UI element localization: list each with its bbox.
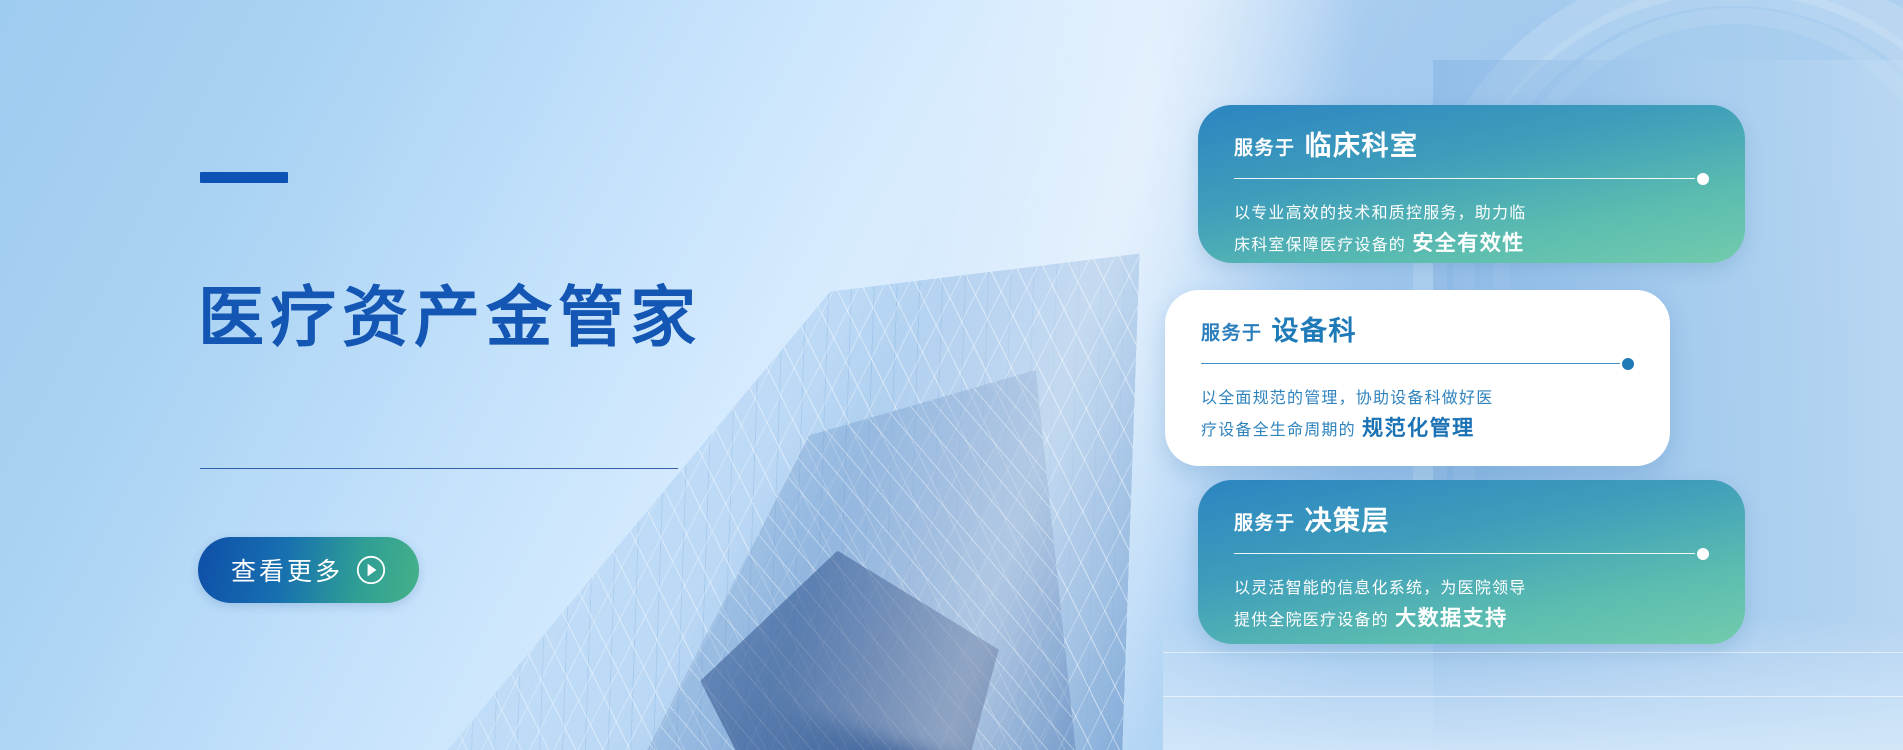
card-title-equipment: 服务于 设备科: [1201, 318, 1634, 345]
card-desc-line-2: 提供全院医疗设备的: [1234, 610, 1389, 629]
rule-line: [1234, 178, 1695, 179]
card-desc-line-2-wrap: 提供全院医疗设备的 大数据支持: [1234, 603, 1709, 635]
rule-dot-icon: [1697, 548, 1709, 560]
service-card-equipment[interactable]: 服务于 设备科 以全面规范的管理，协助设备科做好医 疗设备全生命周期的 规范化管…: [1165, 290, 1670, 466]
card-desc-line-2: 疗设备全生命周期的: [1201, 420, 1356, 439]
card-desc-line-1: 以专业高效的技术和质控服务，助力临: [1234, 198, 1709, 228]
card-rule: [1234, 548, 1709, 560]
card-prefix: 服务于: [1234, 508, 1296, 535]
card-description-decision: 以灵活智能的信息化系统，为医院领导 提供全院医疗设备的 大数据支持: [1234, 573, 1709, 635]
card-title-clinical: 服务于 临床科室: [1234, 133, 1709, 160]
card-prefix: 服务于: [1234, 133, 1296, 160]
rule-line: [1234, 553, 1695, 554]
card-target: 临床科室: [1305, 133, 1419, 160]
service-cards: 服务于 临床科室 以专业高效的技术和质控服务，助力临 床科室保障医疗设备的 安全…: [0, 0, 1903, 750]
card-rule: [1201, 358, 1634, 370]
card-desc-line-1: 以灵活智能的信息化系统，为医院领导: [1234, 573, 1709, 603]
rule-line: [1201, 363, 1620, 364]
card-desc-line-2-wrap: 床科室保障医疗设备的 安全有效性: [1234, 228, 1709, 260]
card-emphasis: 安全有效性: [1412, 231, 1525, 255]
card-prefix: 服务于: [1201, 318, 1263, 345]
card-emphasis: 大数据支持: [1395, 606, 1508, 630]
card-desc-line-2-wrap: 疗设备全生命周期的 规范化管理: [1201, 413, 1634, 445]
rule-dot-icon: [1697, 173, 1709, 185]
card-emphasis: 规范化管理: [1362, 416, 1475, 440]
card-description-clinical: 以专业高效的技术和质控服务，助力临 床科室保障医疗设备的 安全有效性: [1234, 198, 1709, 260]
card-desc-line-2: 床科室保障医疗设备的: [1234, 235, 1406, 254]
card-target: 决策层: [1305, 508, 1391, 535]
rule-dot-icon: [1622, 358, 1634, 370]
service-card-clinical[interactable]: 服务于 临床科室 以专业高效的技术和质控服务，助力临 床科室保障医疗设备的 安全…: [1198, 105, 1745, 263]
card-desc-line-1: 以全面规范的管理，协助设备科做好医: [1201, 383, 1634, 413]
card-description-equipment: 以全面规范的管理，协助设备科做好医 疗设备全生命周期的 规范化管理: [1201, 383, 1634, 445]
card-title-decision: 服务于 决策层: [1234, 508, 1709, 535]
service-card-decision[interactable]: 服务于 决策层 以灵活智能的信息化系统，为医院领导 提供全院医疗设备的 大数据支…: [1198, 480, 1745, 644]
card-target: 设备科: [1272, 318, 1358, 345]
card-rule: [1234, 173, 1709, 185]
hero-banner: 医疗资产金管家 查看更多 服务于 临床科室 以专业: [0, 0, 1903, 750]
